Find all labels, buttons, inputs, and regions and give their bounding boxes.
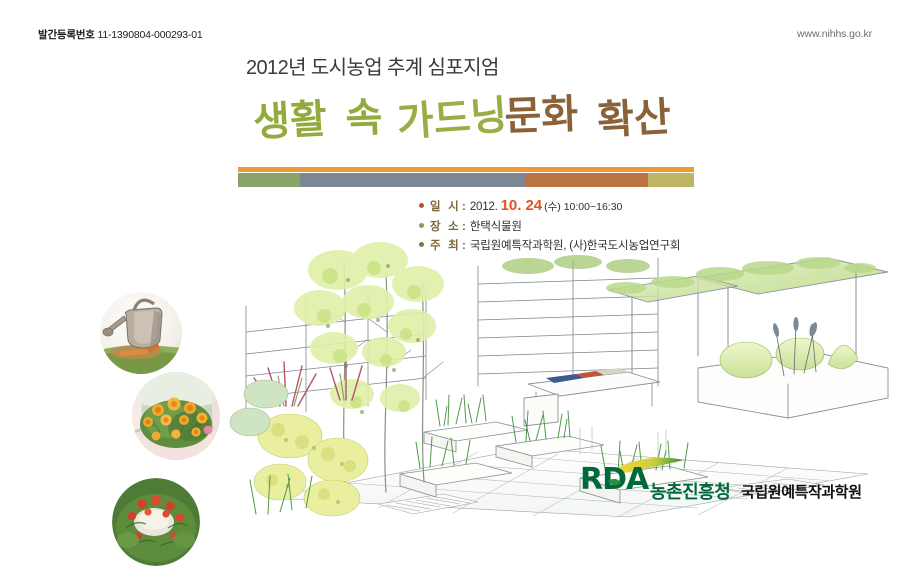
color-bar-segment-slate — [300, 173, 526, 187]
svg-text:생활: 생활 — [252, 96, 328, 146]
watering-can-photo — [100, 292, 182, 374]
color-bar-top-stripe — [238, 167, 694, 172]
publication-registration-number: 발간등록번호 11-1390804-000293-01 — [38, 27, 202, 42]
main-title-calligraphy: .cal { font-family:"DejaVu Sans",sans-se… — [250, 88, 690, 152]
detail-date-day: 24 — [525, 197, 542, 214]
svg-text:문화: 문화 — [504, 91, 579, 140]
decorative-color-bar — [238, 167, 694, 187]
detail-date-month: 10. — [501, 197, 522, 214]
event-subtitle: 2012년 도시농업 추계 심포지엄 — [246, 51, 499, 80]
registration-label: 발간등록번호 — [38, 29, 95, 41]
detail-date-year: 2012. — [470, 201, 498, 213]
color-bar-segment-olive — [648, 173, 694, 187]
detail-colon: : — [462, 221, 466, 233]
detail-label-date: 일 시 — [430, 198, 461, 214]
svg-text:속: 속 — [345, 95, 383, 142]
detail-colon: : — [462, 201, 466, 213]
rda-logo: RDA 농촌진흥청 국립원예특작과학원 — [578, 457, 863, 503]
poster-canvas: 발간등록번호 11-1390804-000293-01 www.nihhs.go… — [0, 0, 898, 518]
detail-row-date: 일 시 : 2012. 10. 24 (수) 10:00~16:30 — [419, 197, 680, 214]
vegetable-garden-photo — [112, 478, 200, 566]
svg-text:가드닝: 가드닝 — [395, 92, 508, 146]
color-bar-segment-green — [238, 173, 300, 187]
registration-value: 11-1390804-000293-01 — [97, 29, 202, 41]
marigold-flowers-photo — [132, 372, 220, 460]
bullet-icon — [419, 203, 424, 208]
website-url: www.nihhs.go.kr — [797, 28, 872, 40]
detail-date-time: (수) 10:00~16:30 — [544, 199, 622, 214]
detail-venue-value: 한택식물원 — [470, 218, 522, 234]
detail-row-venue: 장 소 : 한택식물원 — [419, 218, 680, 234]
bullet-icon — [419, 223, 424, 228]
detail-label-venue: 장 소 — [430, 218, 461, 234]
svg-text:확산: 확산 — [596, 94, 672, 144]
rda-korean-name-text: 농촌진흥청 — [650, 481, 730, 503]
color-bar-segment-terracotta — [525, 173, 648, 187]
rda-institute-text: 국립원예특작과학원 — [741, 483, 862, 501]
